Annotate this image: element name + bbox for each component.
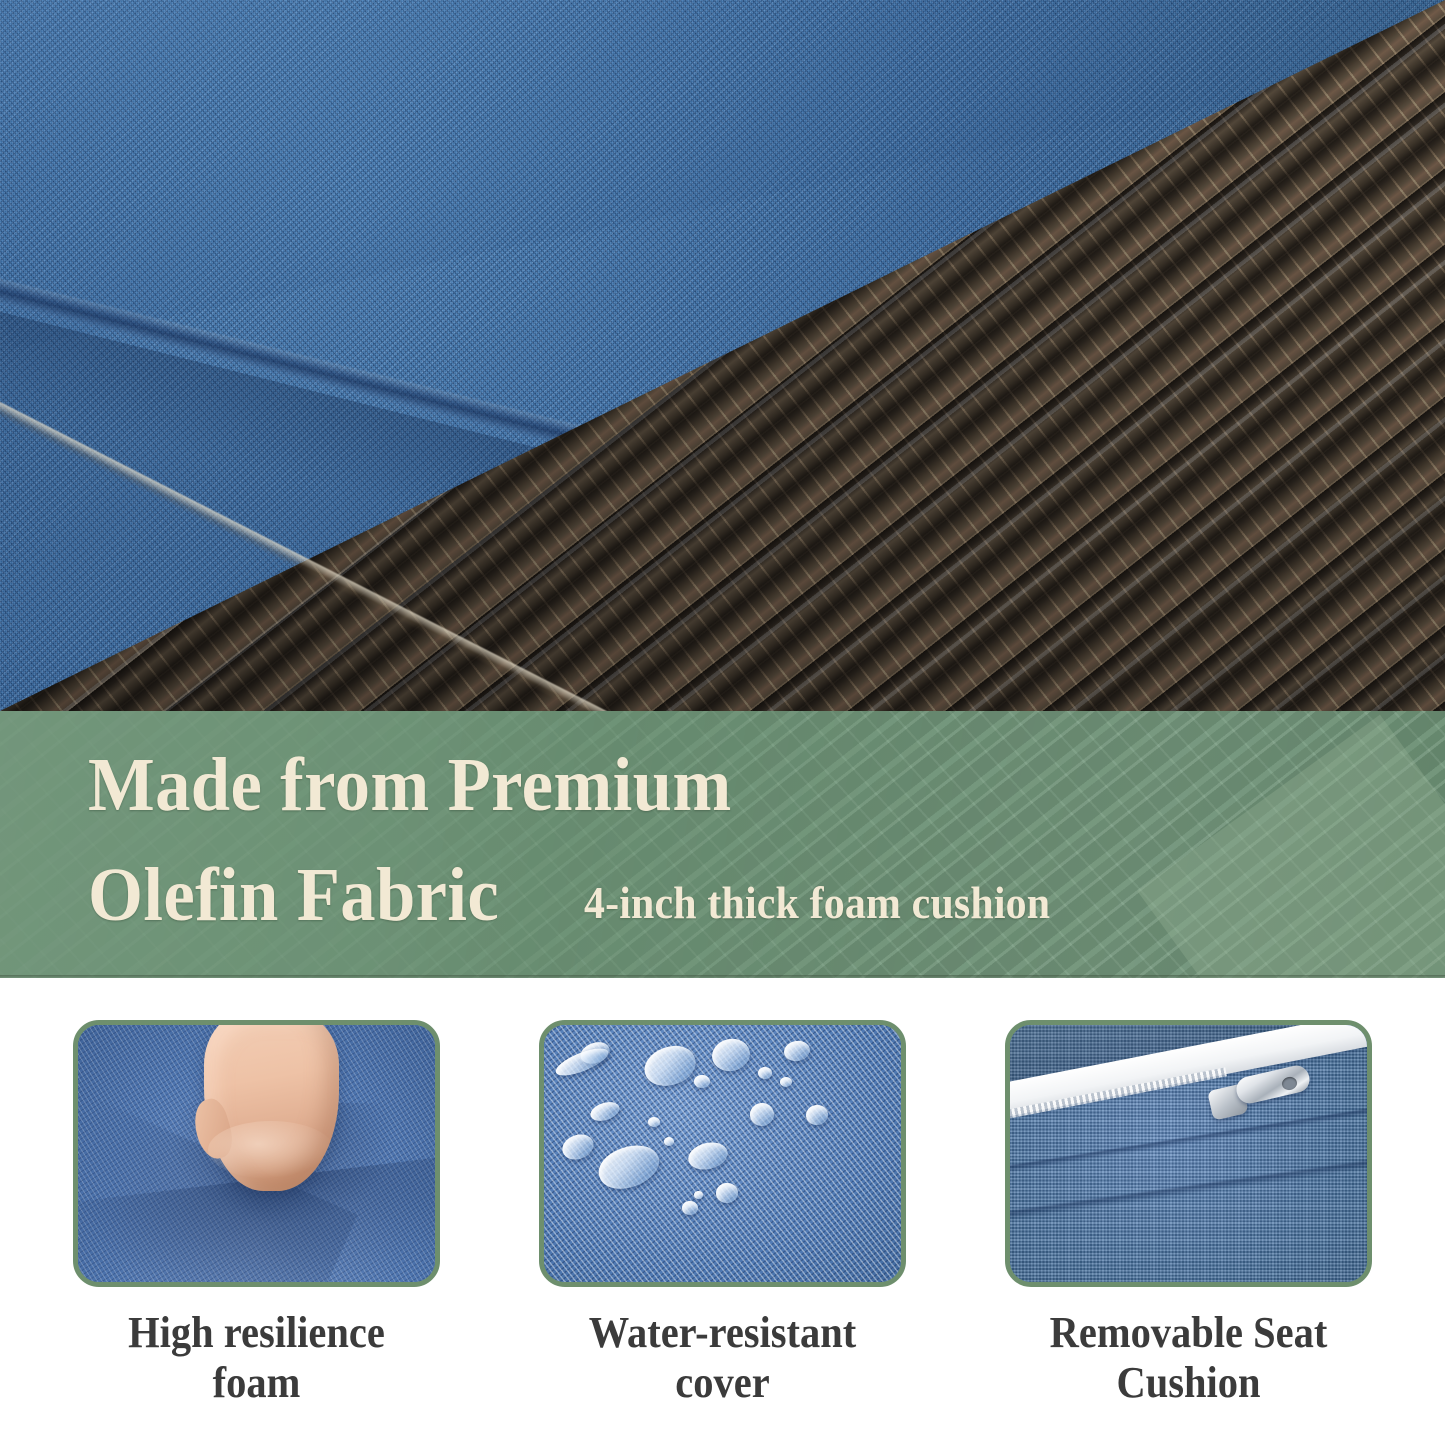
feature-card-water-resistant-cover[interactable] <box>539 1020 906 1287</box>
caption-line-1: High resilience <box>88 1308 426 1358</box>
feature-caption-row: High resilience foam Water-resistant cov… <box>73 1308 1372 1408</box>
feature-card-row <box>73 1020 1372 1290</box>
caption-line-1: Removable Seat <box>1020 1308 1358 1358</box>
water-droplet <box>682 1201 698 1215</box>
infographic-page: Made from Premium Olefin Fabric 4-inch t… <box>0 0 1445 1445</box>
hero-product-photo <box>0 0 1445 711</box>
hand-knuckle-highlight <box>208 1121 334 1179</box>
feature-card-high-resilience-foam[interactable] <box>73 1020 440 1287</box>
headline-banner: Made from Premium Olefin Fabric 4-inch t… <box>0 711 1445 978</box>
caption-water-resistant-cover: Water-resistant cover <box>539 1308 906 1408</box>
water-droplet <box>648 1117 660 1127</box>
caption-high-resilience-foam: High resilience foam <box>73 1308 440 1408</box>
water-droplet <box>694 1075 710 1088</box>
feature-image-removable-seat-cushion <box>1010 1025 1367 1282</box>
feature-card-removable-seat-cushion[interactable] <box>1005 1020 1372 1287</box>
banner-subhead: 4-inch thick foam cushion <box>584 881 1050 933</box>
headline-line-2: Olefin Fabric <box>88 857 499 933</box>
headline-line-1: Made from Premium <box>88 747 1350 823</box>
headline-second-row: Olefin Fabric 4-inch thick foam cushion <box>88 857 1445 933</box>
water-droplet <box>758 1067 772 1079</box>
banner-text-block: Made from Premium Olefin Fabric 4-inch t… <box>0 711 1445 978</box>
caption-removable-seat-cushion: Removable Seat Cushion <box>1005 1308 1372 1408</box>
water-droplet <box>694 1191 703 1199</box>
water-droplet <box>664 1137 674 1146</box>
water-droplet <box>780 1077 792 1087</box>
feature-image-high-resilience-foam <box>78 1025 435 1282</box>
caption-line-2: foam <box>88 1358 426 1408</box>
feature-image-water-resistant-cover <box>544 1025 901 1282</box>
caption-line-2: Cushion <box>1020 1358 1358 1408</box>
caption-line-2: cover <box>554 1358 892 1408</box>
feature-section: High resilience foam Water-resistant cov… <box>0 978 1445 1445</box>
caption-line-1: Water-resistant <box>554 1308 892 1358</box>
